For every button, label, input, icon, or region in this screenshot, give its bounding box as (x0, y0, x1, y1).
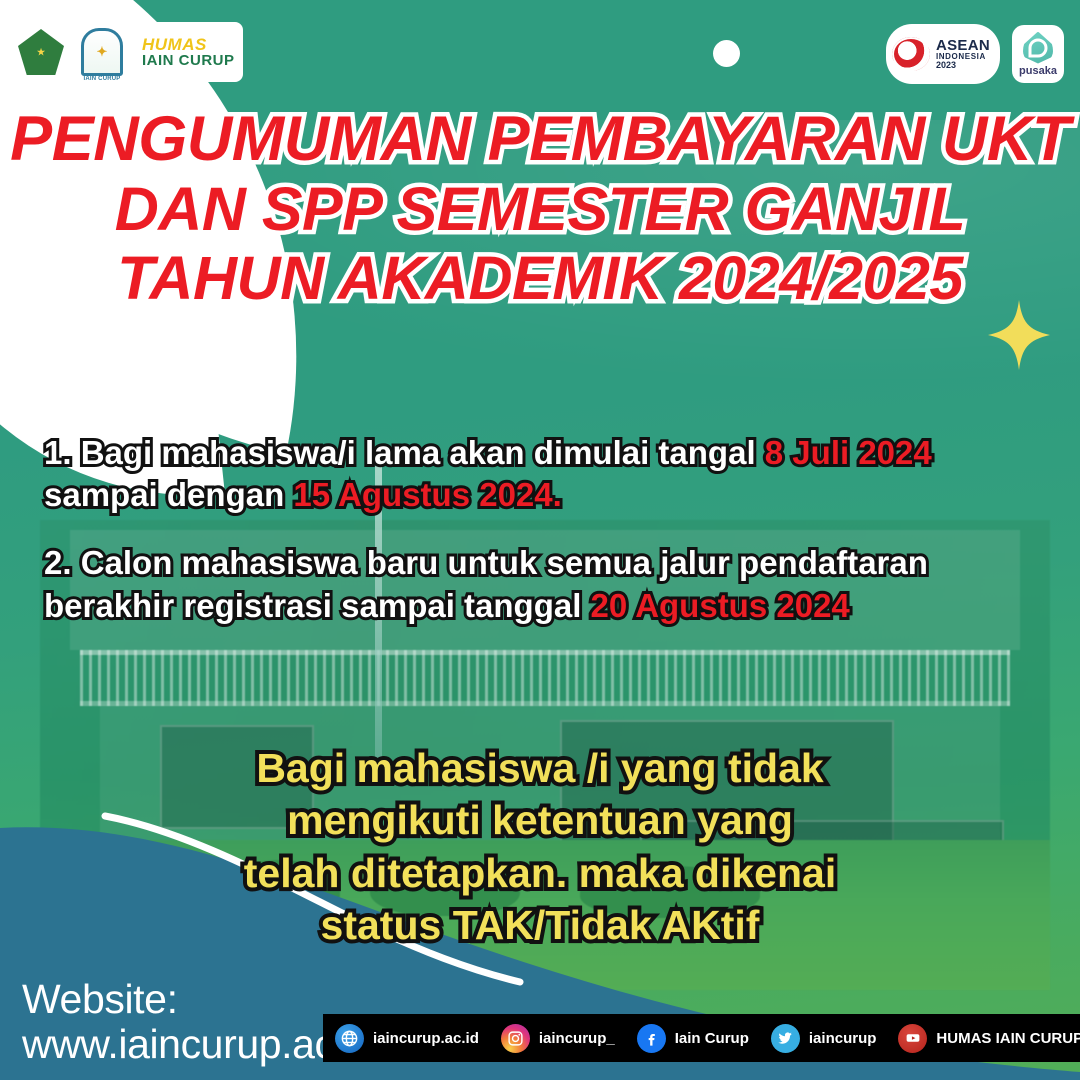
social-item-youtube[interactable]: HUMAS IAIN CURUP (898, 1024, 1080, 1053)
social-item-twitter[interactable]: iaincurup (771, 1024, 877, 1053)
warning-line-1: Bagi mahasiswa /i yang tidak (0, 742, 1080, 794)
poster-canvas: ★ ✦ IAIN CURUP HUMAS IAIN CURUP ASEAN IN… (0, 0, 1080, 1080)
facebook-icon (637, 1024, 666, 1053)
social-handle-twitter: iaincurup (809, 1030, 877, 1047)
institution-logos-left: ★ ✦ IAIN CURUP HUMAS IAIN CURUP (12, 22, 243, 82)
building-railing-upper (80, 650, 1010, 706)
social-item-facebook[interactable]: Iain Curup (637, 1024, 749, 1053)
warning-line-2: mengikuti ketentuan yang (0, 794, 1080, 846)
title-line-1: PENGUMUMAN PEMBAYARAN UKT (0, 104, 1080, 175)
list-item-2-text-b: berakhir registrasi sampai tanggal (44, 587, 591, 624)
warning-line-3: telah ditetapkan. maka dikenai (0, 847, 1080, 899)
twitter-icon (771, 1024, 800, 1053)
social-media-bar: iaincurup.ac.id iaincurup_ Iain Curup (323, 1014, 1080, 1062)
social-handle-youtube: HUMAS IAIN CURUP (936, 1030, 1080, 1047)
partner-logos-right: ASEAN INDONESIA 2023 pusaka (886, 24, 1064, 84)
white-dot-decoration (713, 40, 740, 67)
globe-icon (335, 1024, 364, 1053)
kemenag-logo: ★ (12, 23, 70, 81)
list-item-2-line-2: berakhir registrasi sampai tanggal 20 Ag… (44, 585, 1044, 627)
youtube-icon (898, 1024, 927, 1053)
list-item-1-text-b: sampai dengan (44, 476, 293, 513)
iain-curup-logo-arch: ✦ (81, 28, 123, 76)
iain-curup-logo-caption: IAIN CURUP (83, 76, 120, 82)
pusaka-drop-icon (1023, 32, 1053, 64)
list-item: 2. Calon mahasiswa baru untuk semua jalu… (44, 542, 1044, 626)
pusaka-logo: pusaka (1012, 25, 1064, 83)
asean-mark-icon (892, 37, 930, 71)
social-item-instagram[interactable]: iaincurup_ (501, 1024, 615, 1053)
humas-iain-curup-logo: HUMAS IAIN CURUP (134, 22, 243, 82)
social-handle-instagram: iaincurup_ (539, 1030, 615, 1047)
asean-logo-text: ASEAN INDONESIA 2023 (936, 38, 990, 70)
list-item-1-date-2: 15 Agustus 2024. (293, 476, 561, 513)
list-item-1-text-a: 1. Bagi mahasiswa/i lama akan dimulai ta… (44, 434, 765, 471)
poster-title: PENGUMUMAN PEMBAYARAN UKT DAN SPP SEMEST… (0, 104, 1080, 313)
list-item: 1. Bagi mahasiswa/i lama akan dimulai ta… (44, 432, 1044, 516)
pusaka-logo-label: pusaka (1019, 65, 1057, 77)
title-line-2: DAN SPP SEMESTER GANJIL (0, 175, 1080, 244)
warning-line-4: status TAK/Tidak AKtif (0, 899, 1080, 951)
list-item-2-text-a: 2. Calon mahasiswa baru untuk semua jalu… (44, 544, 928, 581)
title-line-3: TAHUN AKADEMIK 2024/2025 (0, 244, 1080, 313)
announcement-list: 1. Bagi mahasiswa/i lama akan dimulai ta… (44, 432, 1044, 653)
social-item-website[interactable]: iaincurup.ac.id (335, 1024, 479, 1053)
social-handle-facebook: Iain Curup (675, 1030, 749, 1047)
social-handle-website: iaincurup.ac.id (373, 1030, 479, 1047)
humas-logo-line2: IAIN CURUP (142, 53, 235, 68)
kemenag-logo-inner: ★ (18, 29, 64, 75)
asean-indonesia-2023-logo: ASEAN INDONESIA 2023 (886, 24, 1000, 84)
iain-curup-logo: ✦ IAIN CURUP (78, 24, 126, 80)
list-item-1-line-2: sampai dengan 15 Agustus 2024. (44, 474, 1044, 516)
humas-logo-line1: HUMAS (142, 36, 235, 53)
warning-message: Bagi mahasiswa /i yang tidak mengikuti k… (0, 742, 1080, 952)
list-item-2-line-1: 2. Calon mahasiswa baru untuk semua jalu… (44, 542, 1044, 584)
list-item-1-date-1: 8 Juli 2024 (765, 434, 932, 471)
asean-logo-line3: 2023 (936, 61, 990, 70)
instagram-icon (501, 1024, 530, 1053)
list-item-2-date-1: 20 Agustus 2024 (591, 587, 850, 624)
asean-logo-line1: ASEAN (936, 38, 990, 53)
list-item-1-line-1: 1. Bagi mahasiswa/i lama akan dimulai ta… (44, 432, 1044, 474)
